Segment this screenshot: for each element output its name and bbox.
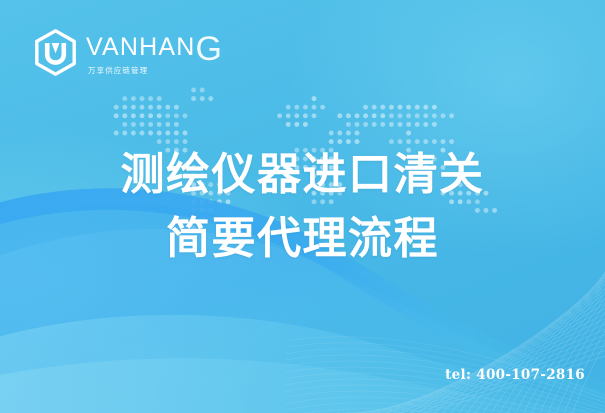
- headline-line-1: 测绘仪器进口清关: [0, 143, 605, 207]
- brand-logo[interactable]: VANHANG 万享供应链管理: [33, 29, 222, 76]
- contact-phone[interactable]: tel: 400-107-2816: [445, 367, 585, 383]
- hexagon-u-icon: [33, 29, 78, 76]
- headline: 测绘仪器进口清关 简要代理流程: [0, 143, 605, 271]
- brand-wordmark-main: VANHAN: [86, 33, 196, 61]
- brand-subtitle-chinese: 万享供应链管理: [88, 67, 222, 75]
- brand-wordmark-latin: VANHANG: [86, 32, 222, 66]
- brand-wordmark: VANHANG 万享供应链管理: [86, 30, 222, 75]
- promo-banner: VANHANG 万享供应链管理 测绘仪器进口清关 简要代理流程 tel: 400…: [0, 0, 605, 413]
- headline-line-2: 简要代理流程: [0, 207, 605, 271]
- brand-wordmark-g: G: [196, 30, 222, 68]
